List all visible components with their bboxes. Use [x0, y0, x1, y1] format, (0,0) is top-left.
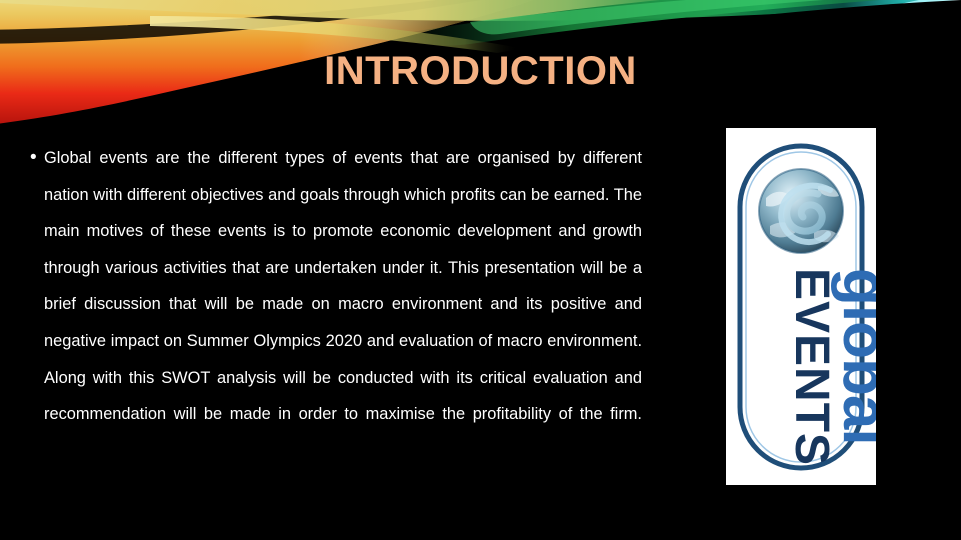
page-title: INTRODUCTION — [0, 50, 961, 92]
intro-paragraph: Global events are the different types of… — [44, 140, 642, 469]
list-item: • Global events are the different types … — [24, 140, 642, 469]
bullet-icon: • — [24, 140, 44, 177]
content-body: • Global events are the different types … — [24, 140, 642, 469]
svg-text:EVENTS: EVENTS — [785, 268, 838, 466]
globe-swirl-icon — [759, 169, 843, 253]
presentation-slide: INTRODUCTION • Global events are the dif… — [0, 0, 961, 540]
global-events-logo: global EVENTS — [726, 128, 876, 485]
